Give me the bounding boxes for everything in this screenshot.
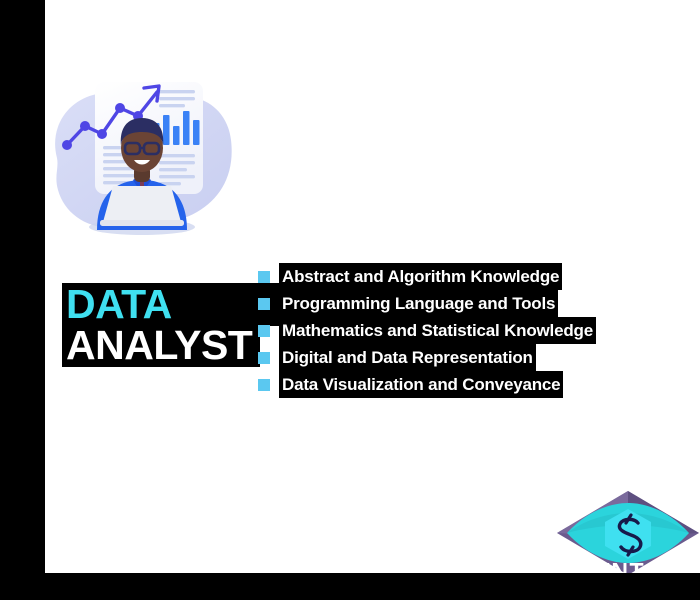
list-item-label: Mathematics and Statistical Knowledge <box>279 317 596 344</box>
list-item-label: Programming Language and Tools <box>279 290 558 317</box>
bullet-square-icon <box>258 271 270 283</box>
slide-card: DATA ANALYST Abstract and Algorithm Know… <box>45 0 700 573</box>
list-item: Digital and Data Representation <box>258 344 596 371</box>
bullet-square-icon <box>258 298 270 310</box>
list-item-label: Digital and Data Representation <box>279 344 536 371</box>
list-item: Mathematics and Statistical Knowledge <box>258 317 596 344</box>
skills-list: Abstract and Algorithm Knowledge Program… <box>258 263 596 398</box>
bullet-square-icon <box>258 379 270 391</box>
bullet-square-icon <box>258 325 270 337</box>
syntax-logo: SYNTAX technologies <box>553 487 700 573</box>
list-item: Data Visualization and Conveyance <box>258 371 596 398</box>
title-line-analyst: ANALYST <box>62 324 260 367</box>
list-item: Programming Language and Tools <box>258 290 596 317</box>
data-analyst-illustration <box>45 70 240 255</box>
list-item-label: Data Visualization and Conveyance <box>279 371 563 398</box>
list-item: Abstract and Algorithm Knowledge <box>258 263 596 290</box>
laptop-graphic <box>100 186 184 226</box>
slide-canvas: DATA ANALYST Abstract and Algorithm Know… <box>0 0 700 600</box>
logo-wordmark: SYNTAX <box>578 558 679 573</box>
list-item-label: Abstract and Algorithm Knowledge <box>279 263 562 290</box>
bullet-square-icon <box>258 352 270 364</box>
